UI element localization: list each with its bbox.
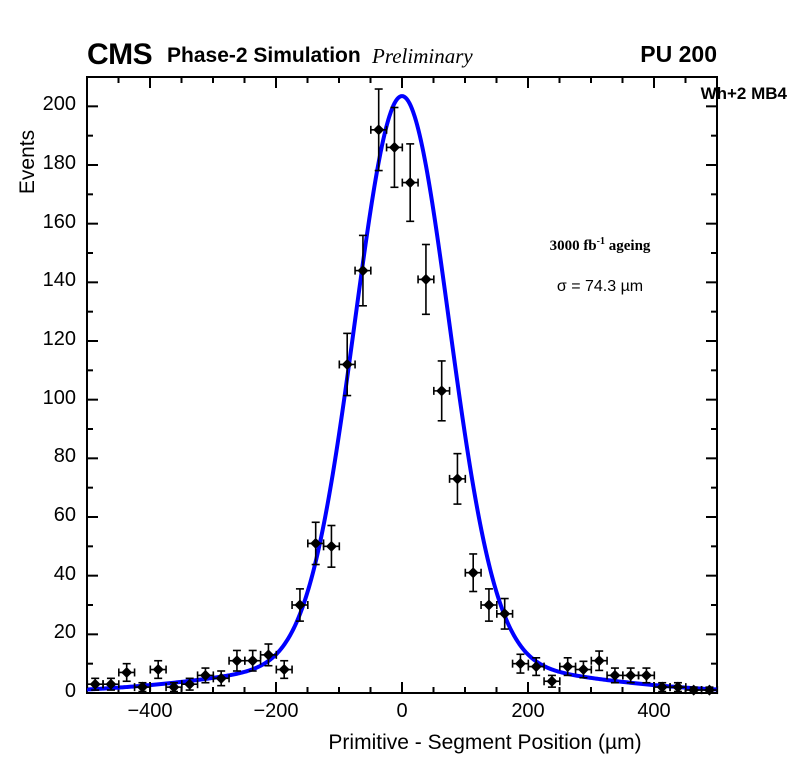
y-tick-label: 120 — [10, 328, 76, 351]
data-point — [213, 671, 229, 686]
data-point — [402, 144, 418, 221]
y-tick-label: 20 — [10, 621, 76, 644]
data-point — [670, 682, 686, 693]
data-point — [513, 654, 529, 673]
data-point — [544, 675, 560, 687]
y-tick-label: 200 — [10, 93, 76, 116]
data-point — [434, 361, 450, 421]
x-tick-label: 200 — [478, 700, 578, 723]
y-tick-label: 80 — [10, 445, 76, 468]
data-point — [450, 454, 466, 504]
y-tick-label: 160 — [10, 211, 76, 234]
x-tick-label: −200 — [226, 700, 326, 723]
data-point — [150, 661, 166, 679]
data-point — [418, 244, 434, 314]
data-point — [481, 589, 497, 621]
x-tick-label: 0 — [352, 700, 452, 723]
y-tick-label: 180 — [10, 152, 76, 175]
data-point — [119, 664, 135, 682]
data-point — [465, 554, 481, 592]
y-tick-label: 40 — [10, 563, 76, 586]
data-points — [87, 89, 717, 696]
plot-svg — [0, 0, 796, 772]
data-point — [591, 651, 607, 670]
data-point — [276, 661, 292, 679]
data-point — [639, 668, 655, 683]
x-tick-label: 400 — [604, 700, 704, 723]
data-point — [654, 682, 670, 693]
y-tick-label: 100 — [10, 387, 76, 410]
y-tick-label: 0 — [10, 680, 76, 703]
data-point — [229, 650, 245, 671]
data-point — [528, 658, 544, 676]
data-point — [324, 526, 340, 568]
axis-ticks — [87, 77, 717, 693]
y-tick-label: 60 — [10, 504, 76, 527]
plot-canvas: CMS Phase-2 Simulation Preliminary PU 20… — [0, 0, 796, 772]
data-point — [371, 89, 387, 171]
y-tick-label: 140 — [10, 269, 76, 292]
x-tick-label: −400 — [100, 700, 200, 723]
axis-frame — [87, 77, 717, 693]
